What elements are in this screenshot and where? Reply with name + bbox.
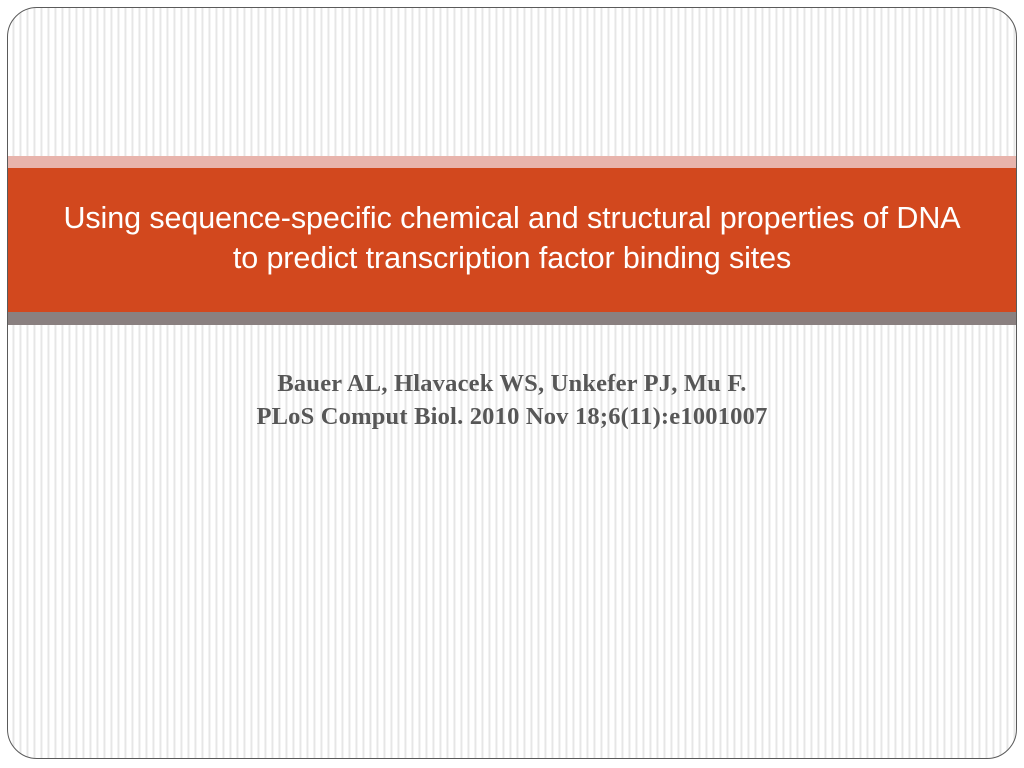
title-banner: Using sequence-specific chemical and str… xyxy=(8,156,1016,325)
slide-canvas: Using sequence-specific chemical and str… xyxy=(7,7,1017,759)
banner-accent-bar xyxy=(8,156,1016,168)
author-line: Bauer AL, Hlavacek WS, Unkefer PJ, Mu F. xyxy=(8,368,1016,401)
banner-underline-bar xyxy=(8,312,1016,325)
banner-body: Using sequence-specific chemical and str… xyxy=(8,168,1016,312)
citation-block: Bauer AL, Hlavacek WS, Unkefer PJ, Mu F.… xyxy=(8,368,1016,433)
page-title: Using sequence-specific chemical and str… xyxy=(48,198,976,279)
journal-citation-line: PLoS Comput Biol. 2010 Nov 18;6(11):e100… xyxy=(8,401,1016,434)
